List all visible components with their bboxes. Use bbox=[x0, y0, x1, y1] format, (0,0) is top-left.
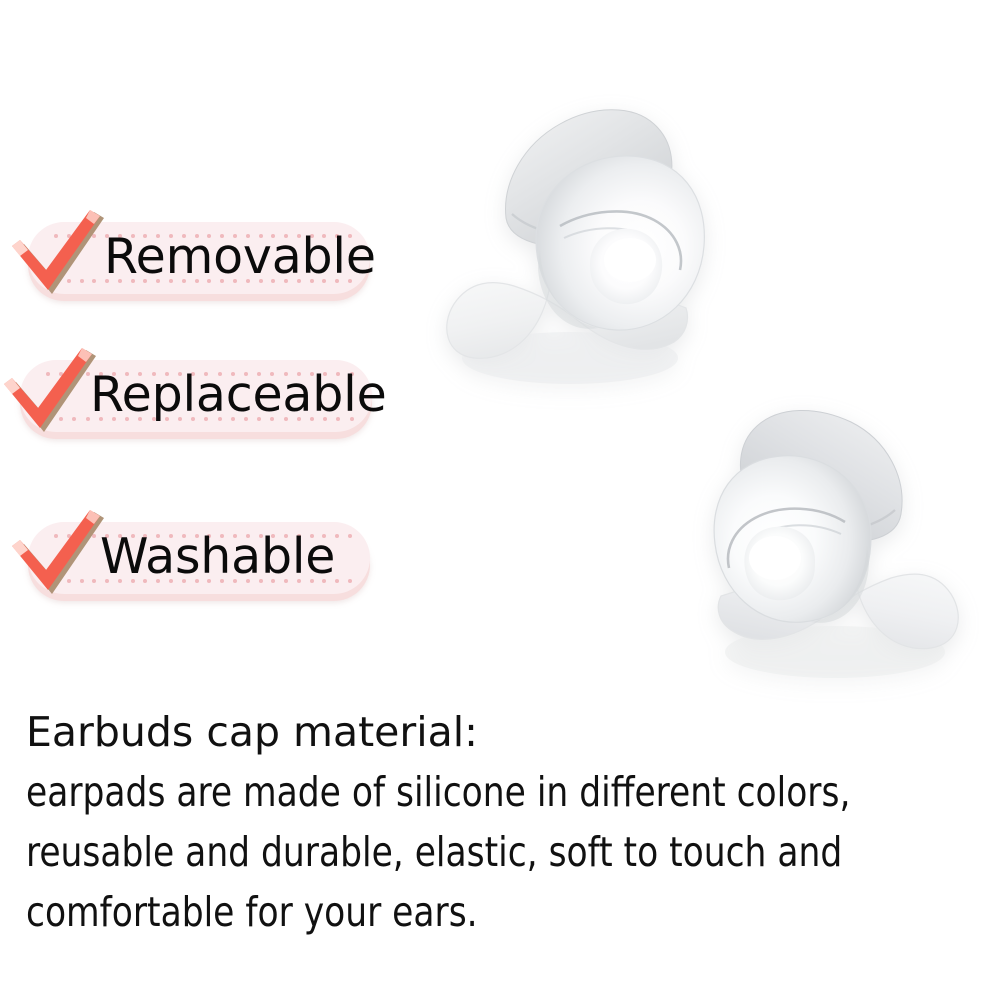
earbud-tip-left bbox=[440, 90, 715, 400]
description-line-1: earpads are made of silicone in differen… bbox=[26, 762, 924, 822]
description-line-2: reusable and durable, elastic, soft to t… bbox=[26, 822, 924, 882]
product-description: Earbuds cap material: earpads are made o… bbox=[26, 702, 986, 942]
earbud-tip-right bbox=[695, 390, 970, 690]
badge-label-washable: Washable bbox=[100, 522, 335, 594]
description-heading: Earbuds cap material: bbox=[26, 702, 986, 762]
check-icon bbox=[0, 348, 104, 444]
feature-badge-list: Removable Replaceable bbox=[0, 0, 420, 660]
badge-label-replaceable: Replaceable bbox=[90, 360, 387, 432]
badge-label-removable: Removable bbox=[104, 222, 376, 294]
product-image-group bbox=[410, 40, 1001, 700]
description-line-3: comfortable for your ears. bbox=[26, 882, 924, 942]
check-icon bbox=[8, 510, 112, 606]
earbud-tip-icon bbox=[695, 390, 970, 690]
check-icon bbox=[8, 210, 112, 306]
earbud-tip-icon bbox=[440, 90, 715, 400]
product-feature-graphic: Removable Replaceable bbox=[0, 0, 1001, 1001]
feature-badge-washable[interactable]: Washable bbox=[28, 522, 370, 600]
feature-badge-replaceable[interactable]: Replaceable bbox=[20, 360, 372, 438]
feature-badge-removable[interactable]: Removable bbox=[28, 222, 370, 300]
